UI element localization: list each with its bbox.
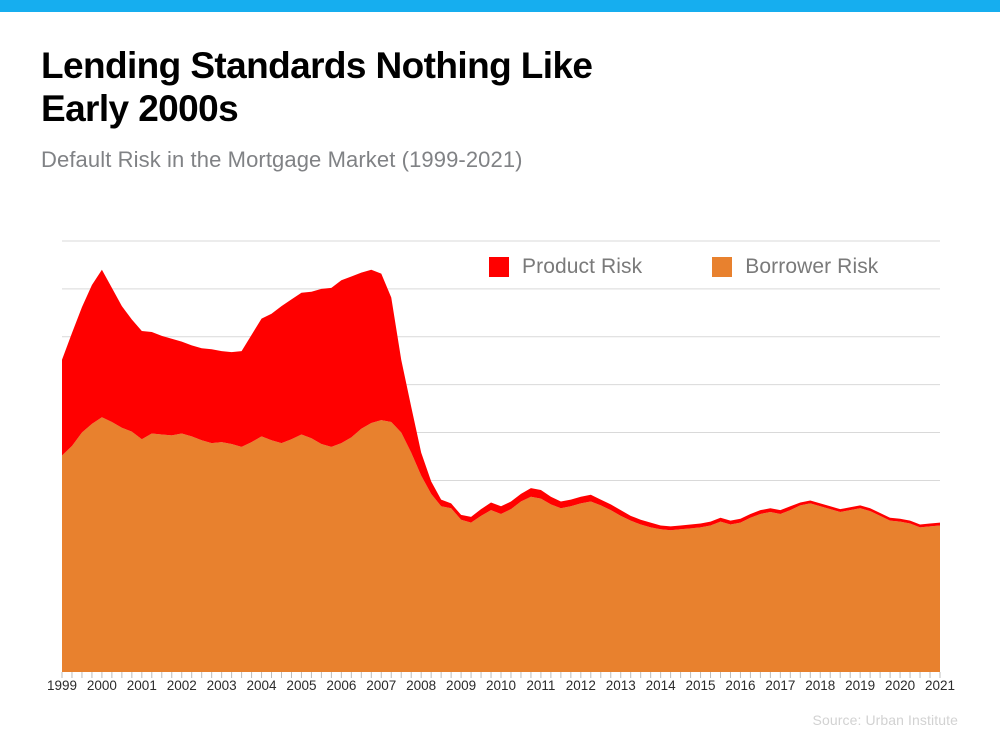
x-axis-label: 2018 xyxy=(805,678,835,693)
x-axis-label: 2003 xyxy=(207,678,237,693)
x-axis-label: 2007 xyxy=(366,678,396,693)
x-axis-label: 2006 xyxy=(326,678,356,693)
x-axis-label: 2005 xyxy=(286,678,316,693)
chart-legend: Product Risk Borrower Risk xyxy=(489,255,878,279)
legend-label-borrower-risk: Borrower Risk xyxy=(745,255,878,279)
x-axis-label: 2021 xyxy=(925,678,955,693)
legend-item-borrower-risk[interactable]: Borrower Risk xyxy=(712,255,878,279)
x-axis-label: 2000 xyxy=(87,678,117,693)
legend-swatch-borrower-risk-icon xyxy=(712,257,732,277)
x-axis-label: 2017 xyxy=(765,678,795,693)
x-axis-label: 2010 xyxy=(486,678,516,693)
x-axis-label: 2015 xyxy=(686,678,716,693)
x-axis-label: 2012 xyxy=(566,678,596,693)
x-axis-label: 2009 xyxy=(446,678,476,693)
x-axis-label: 2020 xyxy=(885,678,915,693)
chart-plot-area: 1999200020012002200320042005200620072008… xyxy=(0,0,1000,750)
x-axis-label: 2001 xyxy=(127,678,157,693)
x-axis-label: 2008 xyxy=(406,678,436,693)
x-axis-label: 2016 xyxy=(725,678,755,693)
x-axis-label: 2019 xyxy=(845,678,875,693)
x-axis-label: 2014 xyxy=(646,678,676,693)
x-axis-label: 2002 xyxy=(167,678,197,693)
x-axis-label: 2013 xyxy=(606,678,636,693)
area-chart-svg xyxy=(0,0,1000,750)
x-axis-label: 2004 xyxy=(247,678,277,693)
x-axis-label: 2011 xyxy=(526,678,555,693)
source-attribution: Source: Urban Institute xyxy=(813,712,959,728)
legend-label-product-risk: Product Risk xyxy=(522,255,642,279)
x-axis-label: 1999 xyxy=(47,678,77,693)
legend-item-product-risk[interactable]: Product Risk xyxy=(489,255,642,279)
legend-swatch-product-risk-icon xyxy=(489,257,509,277)
area-series-borrower-risk xyxy=(62,417,940,672)
